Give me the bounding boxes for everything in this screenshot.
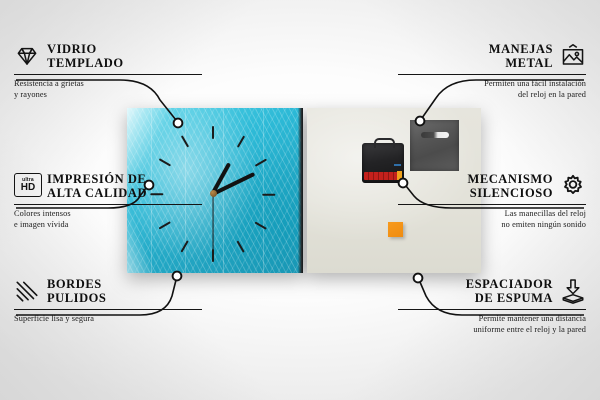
clock-tick-11 (181, 135, 189, 147)
callout-silent-mechanism: MECANISMO SILENCIOSO Las manecillas del … (398, 172, 586, 231)
callout-foam-spacer: ESPACIADOR DE ESPUMA Permite mantener un… (398, 277, 586, 336)
clock-center-pivot (210, 190, 217, 197)
callout-underline (398, 309, 586, 311)
callout-subtitle: Permite mantener una distancia uniforme … (398, 314, 586, 336)
callout-high-quality-print: ultra HD IMPRESIÓN DE ALTA CALIDAD Color… (14, 172, 202, 231)
callout-underline (398, 204, 586, 206)
callout-metal-handles: MANEJAS METAL Permiten una fácil instala… (398, 42, 586, 101)
callout-title: ESPACIADOR DE ESPUMA (466, 277, 553, 306)
foam-spacer-arrow-icon (560, 278, 586, 304)
callout-title: MECANISMO SILENCIOSO (467, 172, 553, 201)
callout-subtitle: Las manecillas del reloj no emiten ningú… (398, 209, 586, 231)
polished-edge-lines-icon (14, 278, 40, 304)
callout-subtitle: Permiten una fácil instalación del reloj… (398, 79, 586, 101)
callout-underline (14, 204, 202, 206)
clock-tick-3 (262, 194, 275, 196)
callout-tempered-glass: VIDRIO TEMPLADO Resistencia a grietas y … (14, 42, 202, 101)
diamond-icon (14, 43, 40, 69)
metal-hanger-plate (410, 120, 459, 171)
clock-tick-6 (212, 249, 214, 262)
clock-second-hand (212, 193, 213, 251)
callout-subtitle: Colores intensos e imagen vívida (14, 209, 202, 231)
callout-subtitle: Resistencia a grietas y rayones (14, 79, 202, 101)
callout-title: VIDRIO TEMPLADO (47, 42, 124, 71)
gear-icon (560, 173, 586, 199)
mechanism-detail (394, 164, 401, 166)
callout-subtitle: Superficie lisa y segura (14, 314, 202, 325)
glass-edge-bevel (298, 108, 303, 273)
callout-polished-edges: BORDES PULIDOS Superficie lisa y segura (14, 277, 202, 325)
clock-tick-1 (237, 135, 245, 147)
callout-underline (14, 309, 202, 311)
ultra-hd-main-label: HD (21, 183, 35, 193)
clock-tick-4 (255, 222, 267, 230)
ultra-hd-badge-icon: ultra HD (14, 173, 40, 199)
callout-title: IMPRESIÓN DE ALTA CALIDAD (47, 172, 147, 201)
clock-tick-5 (237, 240, 245, 252)
callout-title: BORDES PULIDOS (47, 277, 106, 306)
callout-title: MANEJAS METAL (489, 42, 553, 71)
hanger-slot (421, 132, 449, 138)
clock-tick-7 (181, 240, 189, 252)
callout-underline (14, 74, 202, 76)
clock-tick-2 (255, 159, 267, 167)
clock-tick-12 (212, 126, 214, 139)
mechanism-hook (374, 138, 395, 148)
infographic-canvas: VIDRIO TEMPLADO Resistencia a grietas y … (0, 0, 600, 400)
clock-tick-10 (159, 159, 171, 167)
picture-hanger-icon (560, 43, 586, 69)
callout-underline (398, 74, 586, 76)
